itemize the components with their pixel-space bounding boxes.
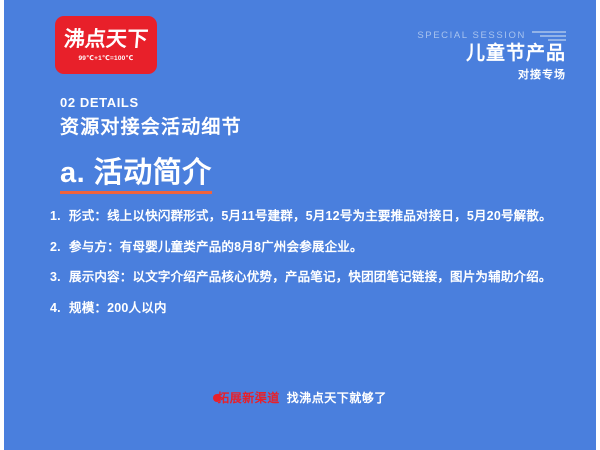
- list-item-text: 形式：线上以快闪群形式，5月11号建群，5月12号为主要推品对接日，5月20号解…: [69, 210, 552, 223]
- main-heading-underline: [60, 191, 212, 194]
- list-item-number: 4.: [50, 302, 69, 315]
- list-item-number: 1.: [50, 210, 69, 223]
- detail-list: 1. 形式：线上以快闪群形式，5月11号建群，5月12号为主要推品对接日，5月2…: [50, 210, 580, 332]
- brand-logo-name: 沸点天下: [63, 29, 149, 50]
- slide-canvas: 沸点天下 99℃+1℃=100℃ SPECIAL SESSION 儿童节产品 对…: [4, 0, 596, 450]
- list-item-number: 3.: [50, 271, 69, 284]
- special-session-en-row: SPECIAL SESSION: [306, 30, 566, 41]
- section-number: 02 DETAILS: [60, 95, 139, 110]
- section-title: 资源对接会活动细节: [60, 112, 242, 139]
- brand-logo-tagline: 99℃+1℃=100℃: [78, 54, 133, 62]
- list-item: 1. 形式：线上以快闪群形式，5月11号建群，5月12号为主要推品对接日，5月2…: [50, 210, 580, 223]
- footer-slogan: 拓展新渠道 找沸点天下就够了: [4, 389, 596, 406]
- list-item: 4. 规模：200人以内: [50, 302, 580, 315]
- decorative-lines-icon: [532, 31, 566, 41]
- special-session-title: 儿童节产品: [306, 43, 566, 65]
- list-item-text: 展示内容：以文字介绍产品核心优势，产品笔记，快团团笔记链接，图片为辅助介绍。: [69, 271, 552, 284]
- list-item-number: 2.: [50, 241, 69, 254]
- special-session-block: SPECIAL SESSION 儿童节产品 对接专场: [306, 30, 566, 82]
- footer-slogan-secondary: 找沸点天下就够了: [287, 389, 387, 406]
- footer-slogan-primary: 拓展新渠道: [217, 389, 280, 406]
- special-session-label: SPECIAL SESSION: [417, 30, 526, 41]
- slide-root: 沸点天下 99℃+1℃=100℃ SPECIAL SESSION 儿童节产品 对…: [0, 0, 600, 450]
- list-item: 2. 参与方：有母婴儿童类产品的8月8广州会参展企业。: [50, 241, 580, 254]
- list-item-text: 规模：200人以内: [69, 302, 167, 315]
- list-item: 3. 展示内容：以文字介绍产品核心优势，产品笔记，快团团笔记链接，图片为辅助介绍…: [50, 271, 580, 284]
- main-heading-text: a. 活动简介: [60, 158, 212, 190]
- brand-logo: 沸点天下 99℃+1℃=100℃: [55, 16, 157, 74]
- main-heading: a. 活动简介: [60, 158, 212, 194]
- special-session-subtitle: 对接专场: [306, 66, 566, 82]
- list-item-text: 参与方：有母婴儿童类产品的8月8广州会参展企业。: [69, 241, 363, 254]
